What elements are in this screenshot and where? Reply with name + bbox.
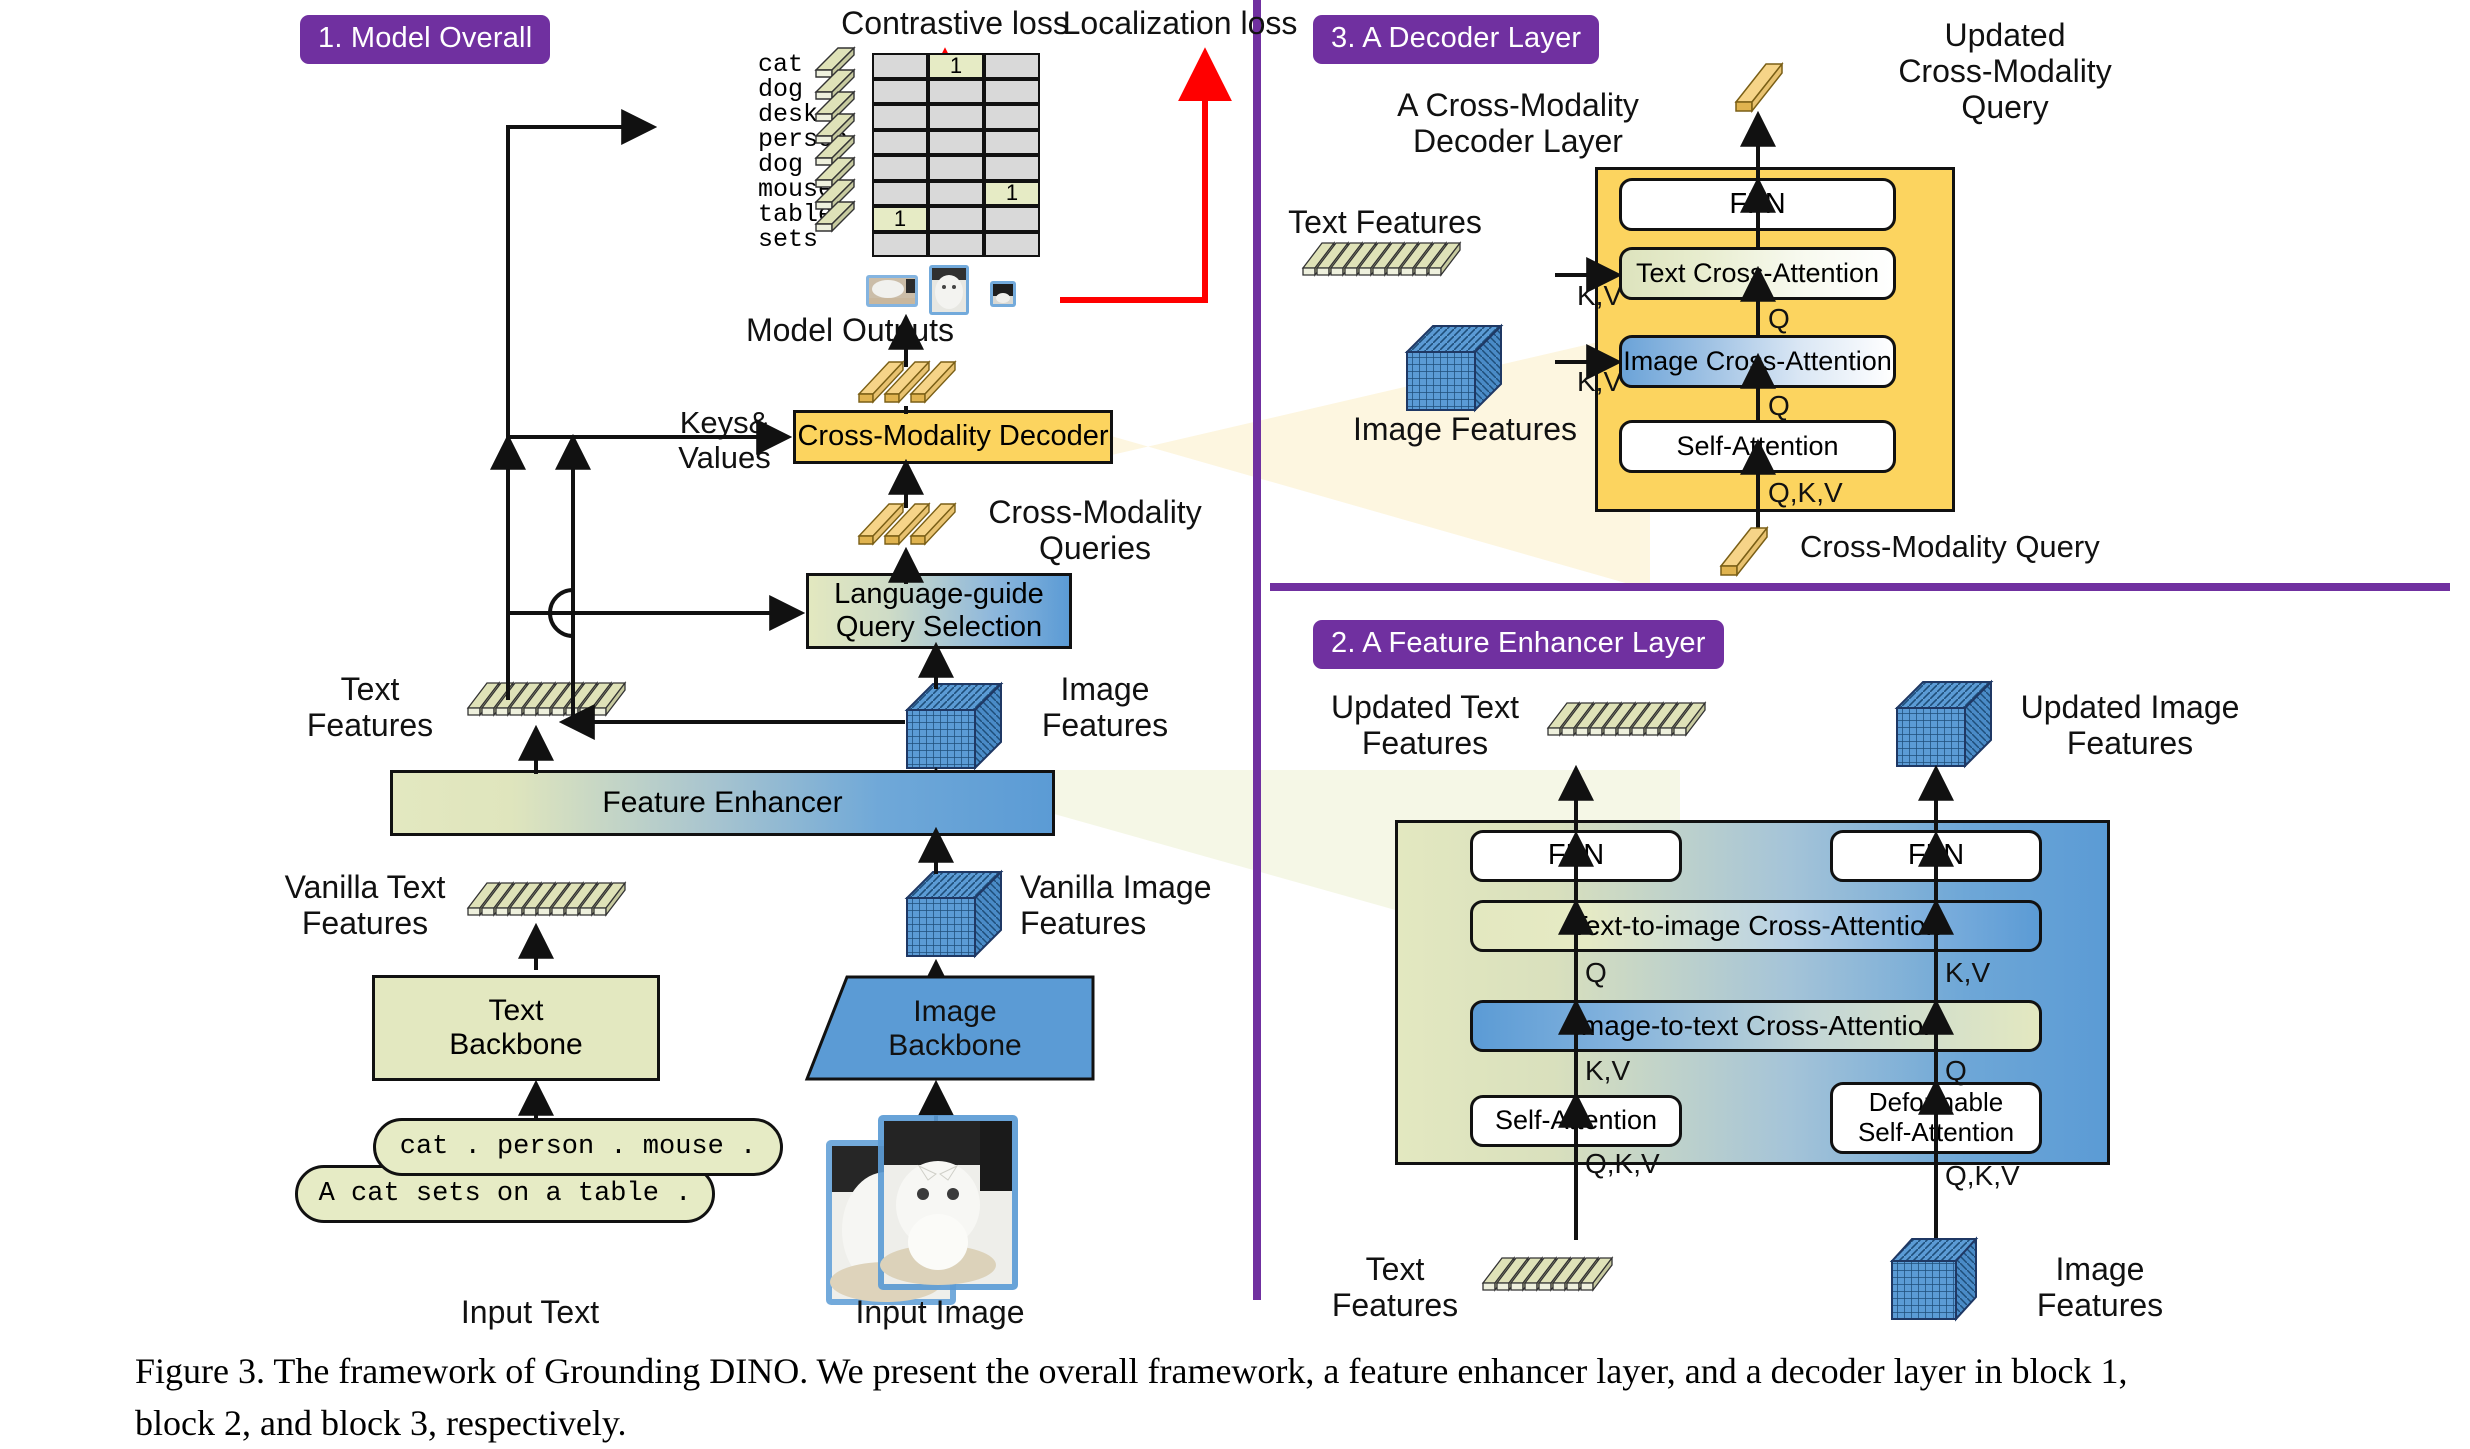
updated-cross-modality-query-icon [1730,58,1800,118]
label-input-text: Input Text [420,1295,640,1331]
edge-label-kv-right-upper: K,V [1945,957,2025,988]
badge-feature-enhancer-layer: 2. A Feature Enhancer Layer [1313,620,1724,669]
caption-line-1: Figure 3. The framework of Grounding DIN… [135,1345,2385,1397]
label-cross-modality-query: Cross-Modality Query [1800,530,2130,565]
edge-label-image-kv: K,V [1577,366,1637,397]
edge-label-text-kv: K,V [1577,280,1637,311]
input-text-caption: A cat sets on a table . [319,1179,692,1209]
edge-label-q-lower: Q [1768,390,1808,421]
edge-label-qkv: Q,K,V [1768,477,1848,508]
edge-label-q-left-upper: Q [1585,957,1625,988]
edge-label-qkv-right: Q,K,V [1945,1160,2045,1191]
edge-label-qkv-left: Q,K,V [1585,1148,1685,1179]
figure-caption: Figure 3. The framework of Grounding DIN… [135,1345,2385,1449]
decoder-image-features-cube-icon [1405,322,1515,422]
input-text-prompt-pill[interactable]: cat . person . mouse . [373,1118,783,1176]
edge-label-q-right-lower: Q [1945,1055,1985,1086]
label-decoder-text-features: Text Features [1280,205,1490,241]
label-enhancer-text-features: Text Features [1310,1252,1480,1324]
decoder-text-features-icon [1300,240,1490,290]
block1-routing-lines [0,0,1253,1300]
enhancer-image-features-cube-icon [1890,1235,2000,1335]
cross-modality-query-icon [1715,522,1785,582]
caption-line-2: block 2, and block 3, respectively. [135,1397,2385,1449]
edge-label-kv-left-lower: K,V [1585,1055,1665,1086]
enhancer-text-features-icon [1480,1255,1670,1305]
edge-label-q-upper: Q [1768,303,1808,334]
badge-decoder-layer: 3. A Decoder Layer [1313,15,1599,64]
horizontal-divider [1270,583,2450,591]
label-enhancer-image-features: Image Features [2015,1252,2185,1324]
label-input-image: Input Image [830,1295,1050,1331]
label-decoder-image-features: Image Features [1350,412,1580,448]
input-text-prompt: cat . person . mouse . [400,1132,756,1162]
enhancer-arrows [1395,740,2115,1300]
figure-grounding-dino: 1. Model Overall Contrastive loss Locali… [0,0,2470,1447]
